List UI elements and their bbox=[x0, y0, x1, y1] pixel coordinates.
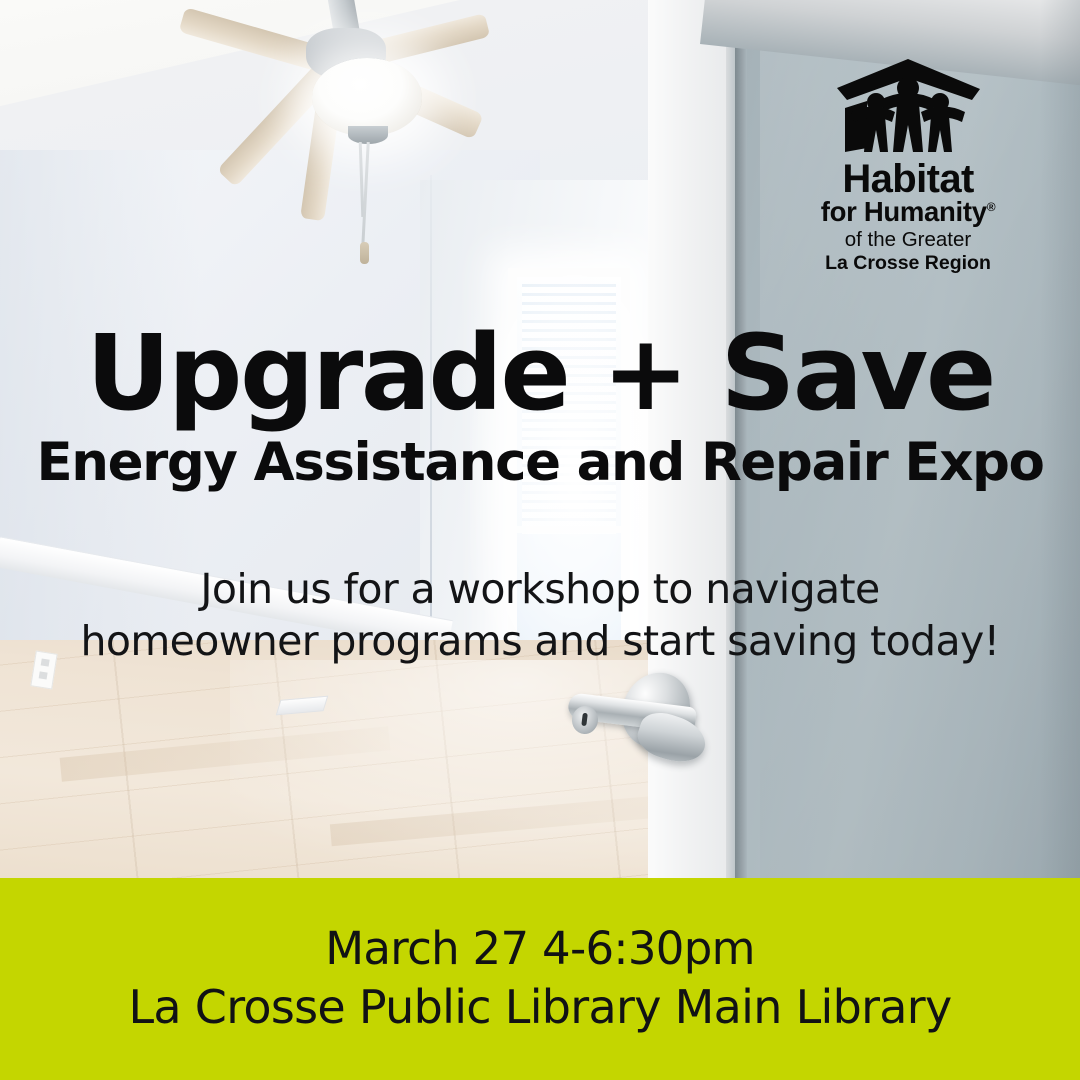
headline-block: Upgrade + Save Energy Assistance and Rep… bbox=[0, 326, 1080, 490]
logo-line-for-humanity: for Humanity® bbox=[820, 198, 996, 227]
event-venue: La Crosse Public Library Main Library bbox=[128, 978, 951, 1038]
logo-line-la-crosse-region: La Crosse Region bbox=[820, 252, 996, 276]
page-title: Upgrade + Save bbox=[0, 326, 1080, 422]
habitat-for-humanity-logo: Habitat for Humanity® of the Greater La … bbox=[820, 56, 996, 276]
page-subtitle: Energy Assistance and Repair Expo bbox=[0, 436, 1080, 490]
ceiling-fan bbox=[176, 0, 506, 202]
fan-light-globe bbox=[312, 58, 422, 136]
event-details-footer: March 27 4-6:30pm La Crosse Public Libra… bbox=[0, 878, 1080, 1080]
body-copy-line-2: homeowner programs and start saving toda… bbox=[0, 616, 1080, 668]
fan-pull-chain-bead bbox=[360, 242, 369, 264]
habitat-roof-and-figures-icon bbox=[833, 56, 983, 154]
poster-canvas: Habitat for Humanity® of the Greater La … bbox=[0, 0, 1080, 1080]
window-sash-rail bbox=[517, 526, 621, 533]
event-date-time: March 27 4-6:30pm bbox=[325, 920, 754, 979]
body-copy-line-1: Join us for a workshop to navigate bbox=[0, 564, 1080, 616]
logo-for-humanity-text: for Humanity bbox=[821, 196, 987, 227]
body-copy: Join us for a workshop to navigate homeo… bbox=[0, 564, 1080, 667]
logo-line-habitat: Habitat bbox=[820, 160, 996, 198]
registered-trademark-icon: ® bbox=[987, 200, 996, 214]
logo-line-of-the-greater: of the Greater bbox=[820, 227, 996, 252]
